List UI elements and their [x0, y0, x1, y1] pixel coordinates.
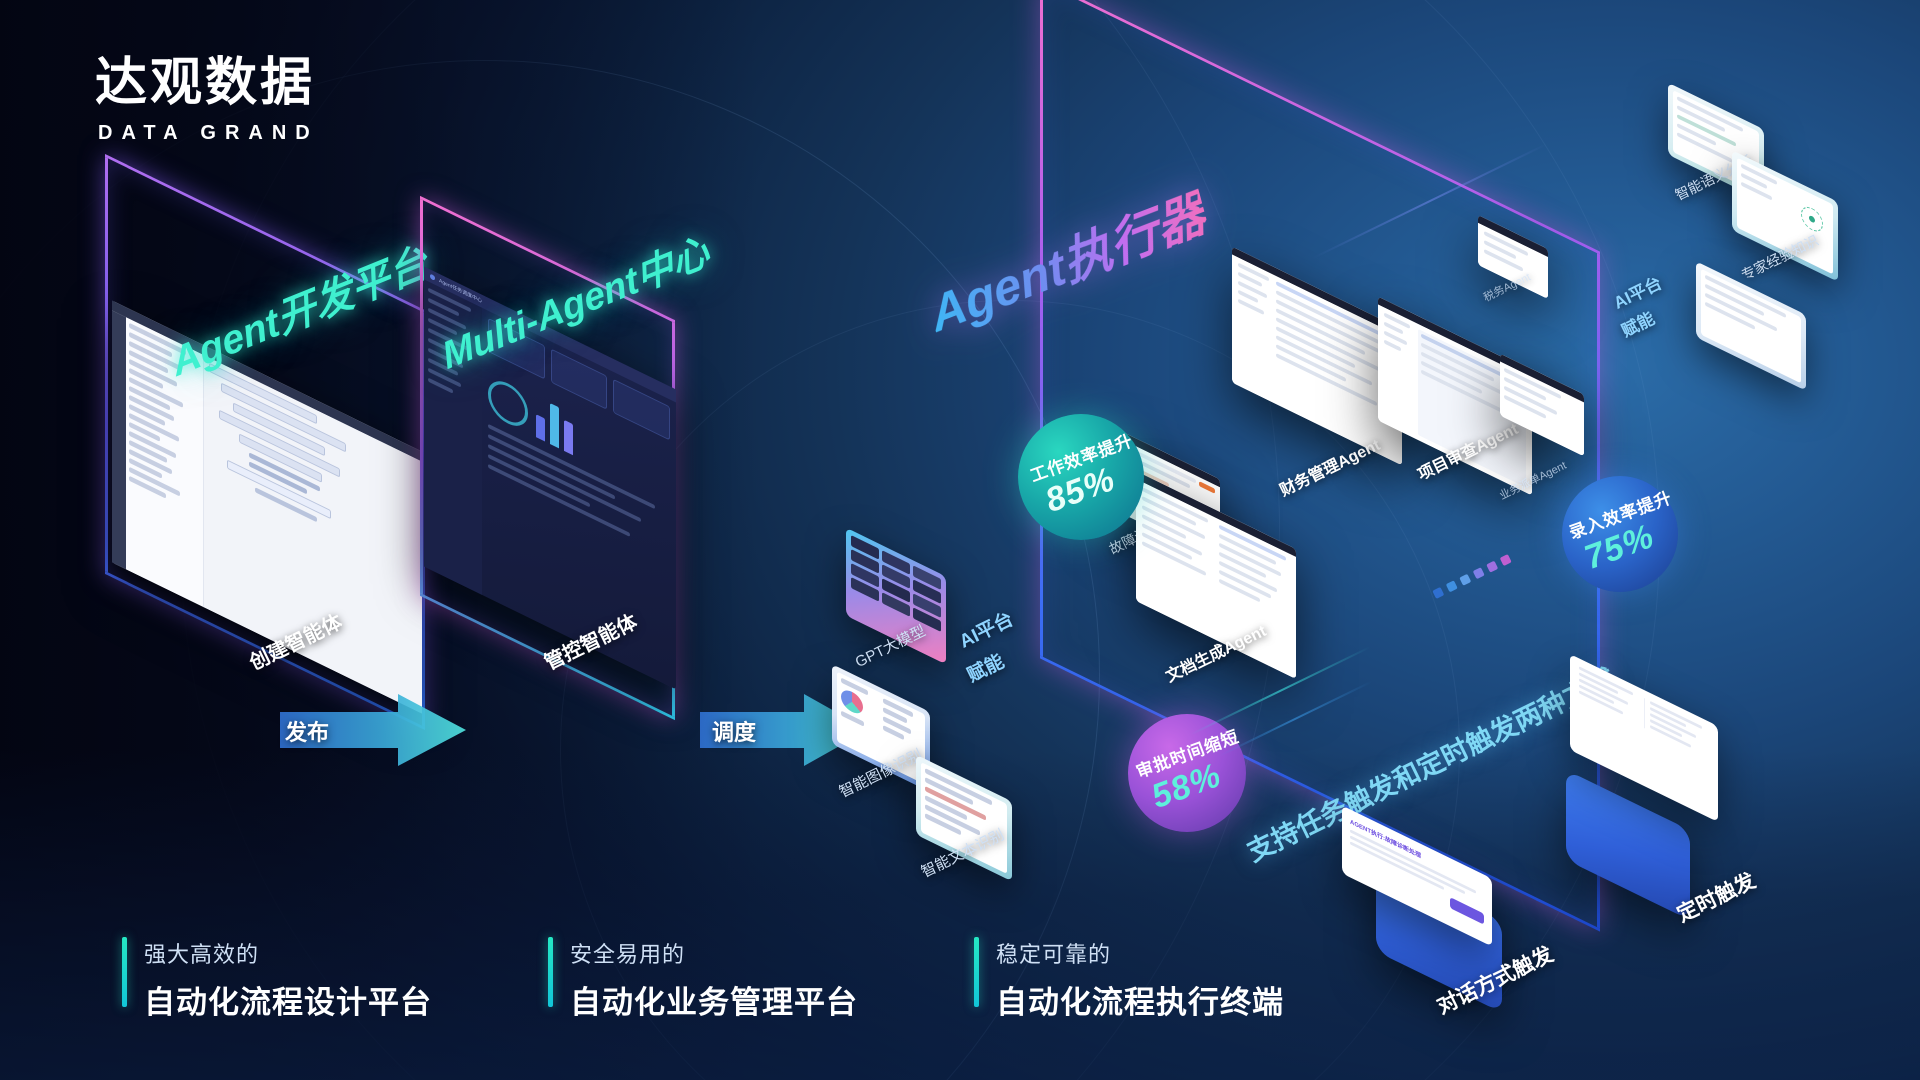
trigger-headline: 支持任务触发和定时触发两种方式 [1239, 656, 1620, 869]
device-label-finance-agent: 财务管理Agent [1275, 431, 1384, 501]
caption-main-2: 自动化业务管理平台 [570, 977, 858, 1022]
brand-name-en: DATA GRAND [95, 122, 319, 145]
flow-label-publish: 发布 [285, 715, 329, 747]
caption-top-3: 稳定可靠的 [996, 937, 1284, 969]
glow-line-2 [1218, 681, 1372, 757]
flow-label-schedule: 调度 [712, 715, 756, 747]
bottom-captions: 强大高效的 自动化流程设计平台 安全易用的 自动化业务管理平台 稳定可靠的 自动… [122, 937, 1284, 1022]
ai-platform-label-line1: AI平台 [954, 604, 1017, 653]
caption-accent-bar [974, 937, 979, 1007]
dev-platform-title: Agent开发平台 [164, 230, 434, 388]
caption-accent-bar [122, 937, 127, 1007]
brand-logo: 达观数据 DATA GRAND [95, 55, 319, 145]
caption-accent-bar [548, 937, 553, 1007]
caption-design-platform: 强大高效的 自动化流程设计平台 [122, 937, 432, 1022]
brand-name-cn: 达观数据 [95, 55, 319, 112]
monitor-sidebar-rail [112, 310, 126, 569]
ai-platform-label-line2: 赋能 [962, 647, 1008, 688]
dashboard-bar-chart [536, 385, 573, 455]
caption-top-1: 强大高效的 [144, 937, 432, 969]
device-finance-agent [1232, 247, 1402, 466]
chat-card-execute-button[interactable] [1450, 897, 1484, 925]
stat-bubble-efficiency: 工作效率提升 85% [1018, 414, 1144, 540]
stat-bubble-entry: 录入效率提升 75% [1562, 476, 1678, 592]
ai-platform-right-label-line1: AI平台 [1609, 269, 1666, 314]
agent-executor-title: Agent执行器 [921, 173, 1212, 347]
caption-business-platform: 安全易用的 自动化业务管理平台 [548, 937, 858, 1022]
caption-main-3: 自动化流程执行终端 [996, 977, 1284, 1022]
progress-dots [1432, 554, 1511, 599]
caption-main-1: 自动化流程设计平台 [144, 977, 432, 1022]
stat-bubble-approval: 审批时间缩短 58% [1128, 714, 1246, 832]
caption-top-2: 安全易用的 [570, 937, 858, 969]
monitor-flow-canvas [204, 355, 422, 713]
caption-execution-terminal: 稳定可靠的 自动化流程执行终端 [974, 937, 1284, 1022]
infographic-canvas: 达观数据 DATA GRAND [0, 0, 1920, 1080]
